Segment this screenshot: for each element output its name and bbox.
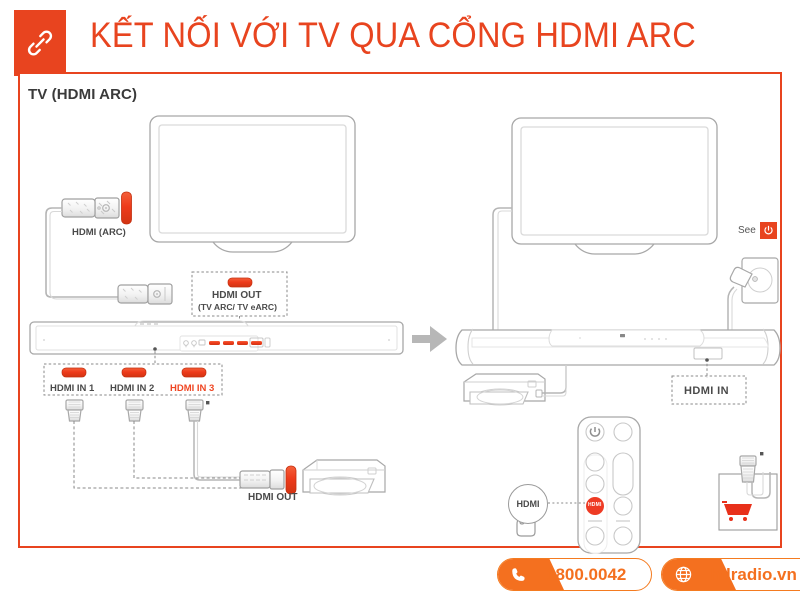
see-label: See	[738, 225, 756, 236]
footer-contacts: 1800.0042 hdradio.vn	[497, 558, 800, 591]
page-root: KẾT NỐI VỚI TV QUA CỔNG HDMI ARC TV (HDM…	[0, 0, 800, 602]
label-hdmi-in-1: HDMI IN 1	[50, 383, 94, 394]
globe-icon	[662, 565, 704, 584]
page-title: KẾT NỐI VỚI TV QUA CỔNG HDMI ARC	[90, 12, 741, 60]
diagram-frame	[18, 72, 782, 548]
label-hdmi-arc: HDMI (ARC)	[72, 227, 126, 238]
label-hdmi-out-title: HDMI OUT	[212, 290, 261, 301]
label-hdmi-out-sub: (TV ARC/ TV eARC)	[198, 302, 277, 312]
remote-hdmi-button-label: HDMI	[588, 502, 602, 508]
see-power-note: See	[738, 222, 777, 239]
hdmi-press-hint-label: HDMI	[517, 499, 540, 509]
footer-phone-badge[interactable]: 1800.0042	[497, 558, 652, 591]
label-right-hdmi-in: HDMI IN	[684, 385, 729, 397]
label-hdmi-in-2: HDMI IN 2	[110, 383, 154, 394]
phone-icon	[498, 566, 540, 584]
footer-website-badge[interactable]: hdradio.vn	[661, 558, 800, 591]
hdmi-press-hint: HDMI	[508, 484, 548, 524]
footer-website-text: hdradio.vn	[704, 565, 800, 585]
label-hdmi-in-3: HDMI IN 3	[170, 383, 214, 394]
header-badge	[14, 10, 66, 76]
link-chain-icon	[23, 26, 57, 60]
diagram-frame-title: TV (HDMI ARC)	[28, 86, 137, 103]
label-source-hdmi-out: HDMI OUT	[248, 492, 297, 503]
footer-phone-text: 1800.0042	[540, 565, 640, 585]
power-icon	[760, 222, 777, 239]
